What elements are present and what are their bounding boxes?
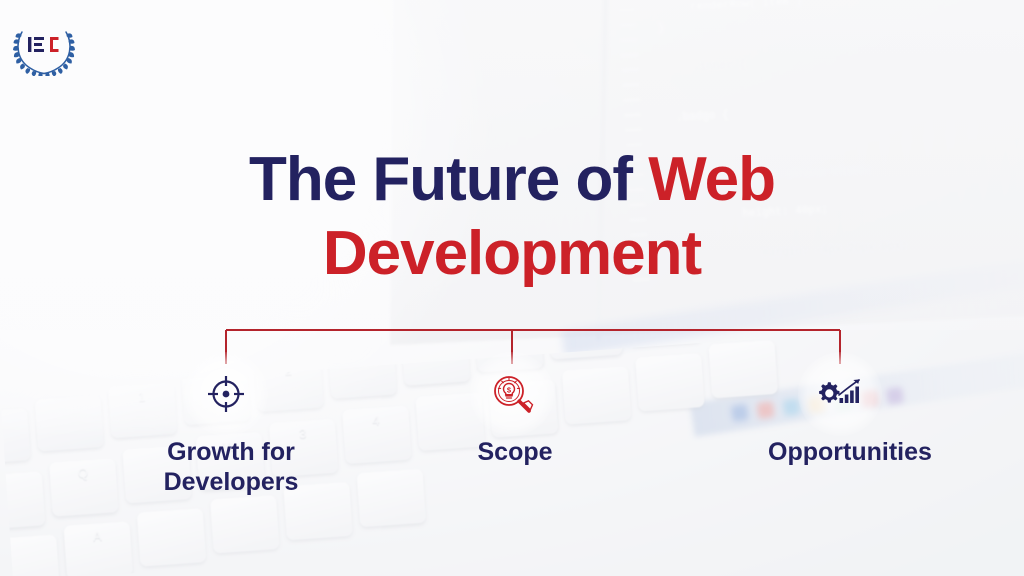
pillar-icon-scope[interactable]: $ xyxy=(470,352,554,436)
title-line1-red: Web xyxy=(648,145,775,214)
pillar-label-scope: Scope xyxy=(390,437,640,467)
svg-text:$: $ xyxy=(507,385,512,394)
title-line1-navy: The Future of xyxy=(249,145,648,214)
page-title: The Future of Web Development xyxy=(0,143,1024,291)
pillar-icon-opportunities[interactable] xyxy=(798,352,882,436)
magnifier-lightbulb-dollar-icon: $ xyxy=(490,372,534,416)
target-crosshair-icon xyxy=(204,372,248,416)
pillar-label-opportunities: Opportunities xyxy=(710,437,990,467)
pillar-icon-growth-for-developers[interactable] xyxy=(184,352,268,436)
pillar-label-growth-for-developers: Growth for Developers xyxy=(96,437,366,497)
pillar-label-row: Growth for Developers Scope Opportunitie… xyxy=(0,437,1024,507)
slide-foreground: The Future of Web Development xyxy=(0,0,1024,576)
gear-growth-chart-icon xyxy=(814,372,866,416)
pillar-label-line2: Developers xyxy=(96,467,366,497)
pillar-icon-row: $ xyxy=(0,352,1024,436)
pillar-label-line1: Growth for xyxy=(96,437,366,467)
iec-laurel-logo[interactable] xyxy=(13,18,75,76)
iec-logo-svg xyxy=(13,18,75,76)
title-line2-red: Development xyxy=(323,219,701,288)
